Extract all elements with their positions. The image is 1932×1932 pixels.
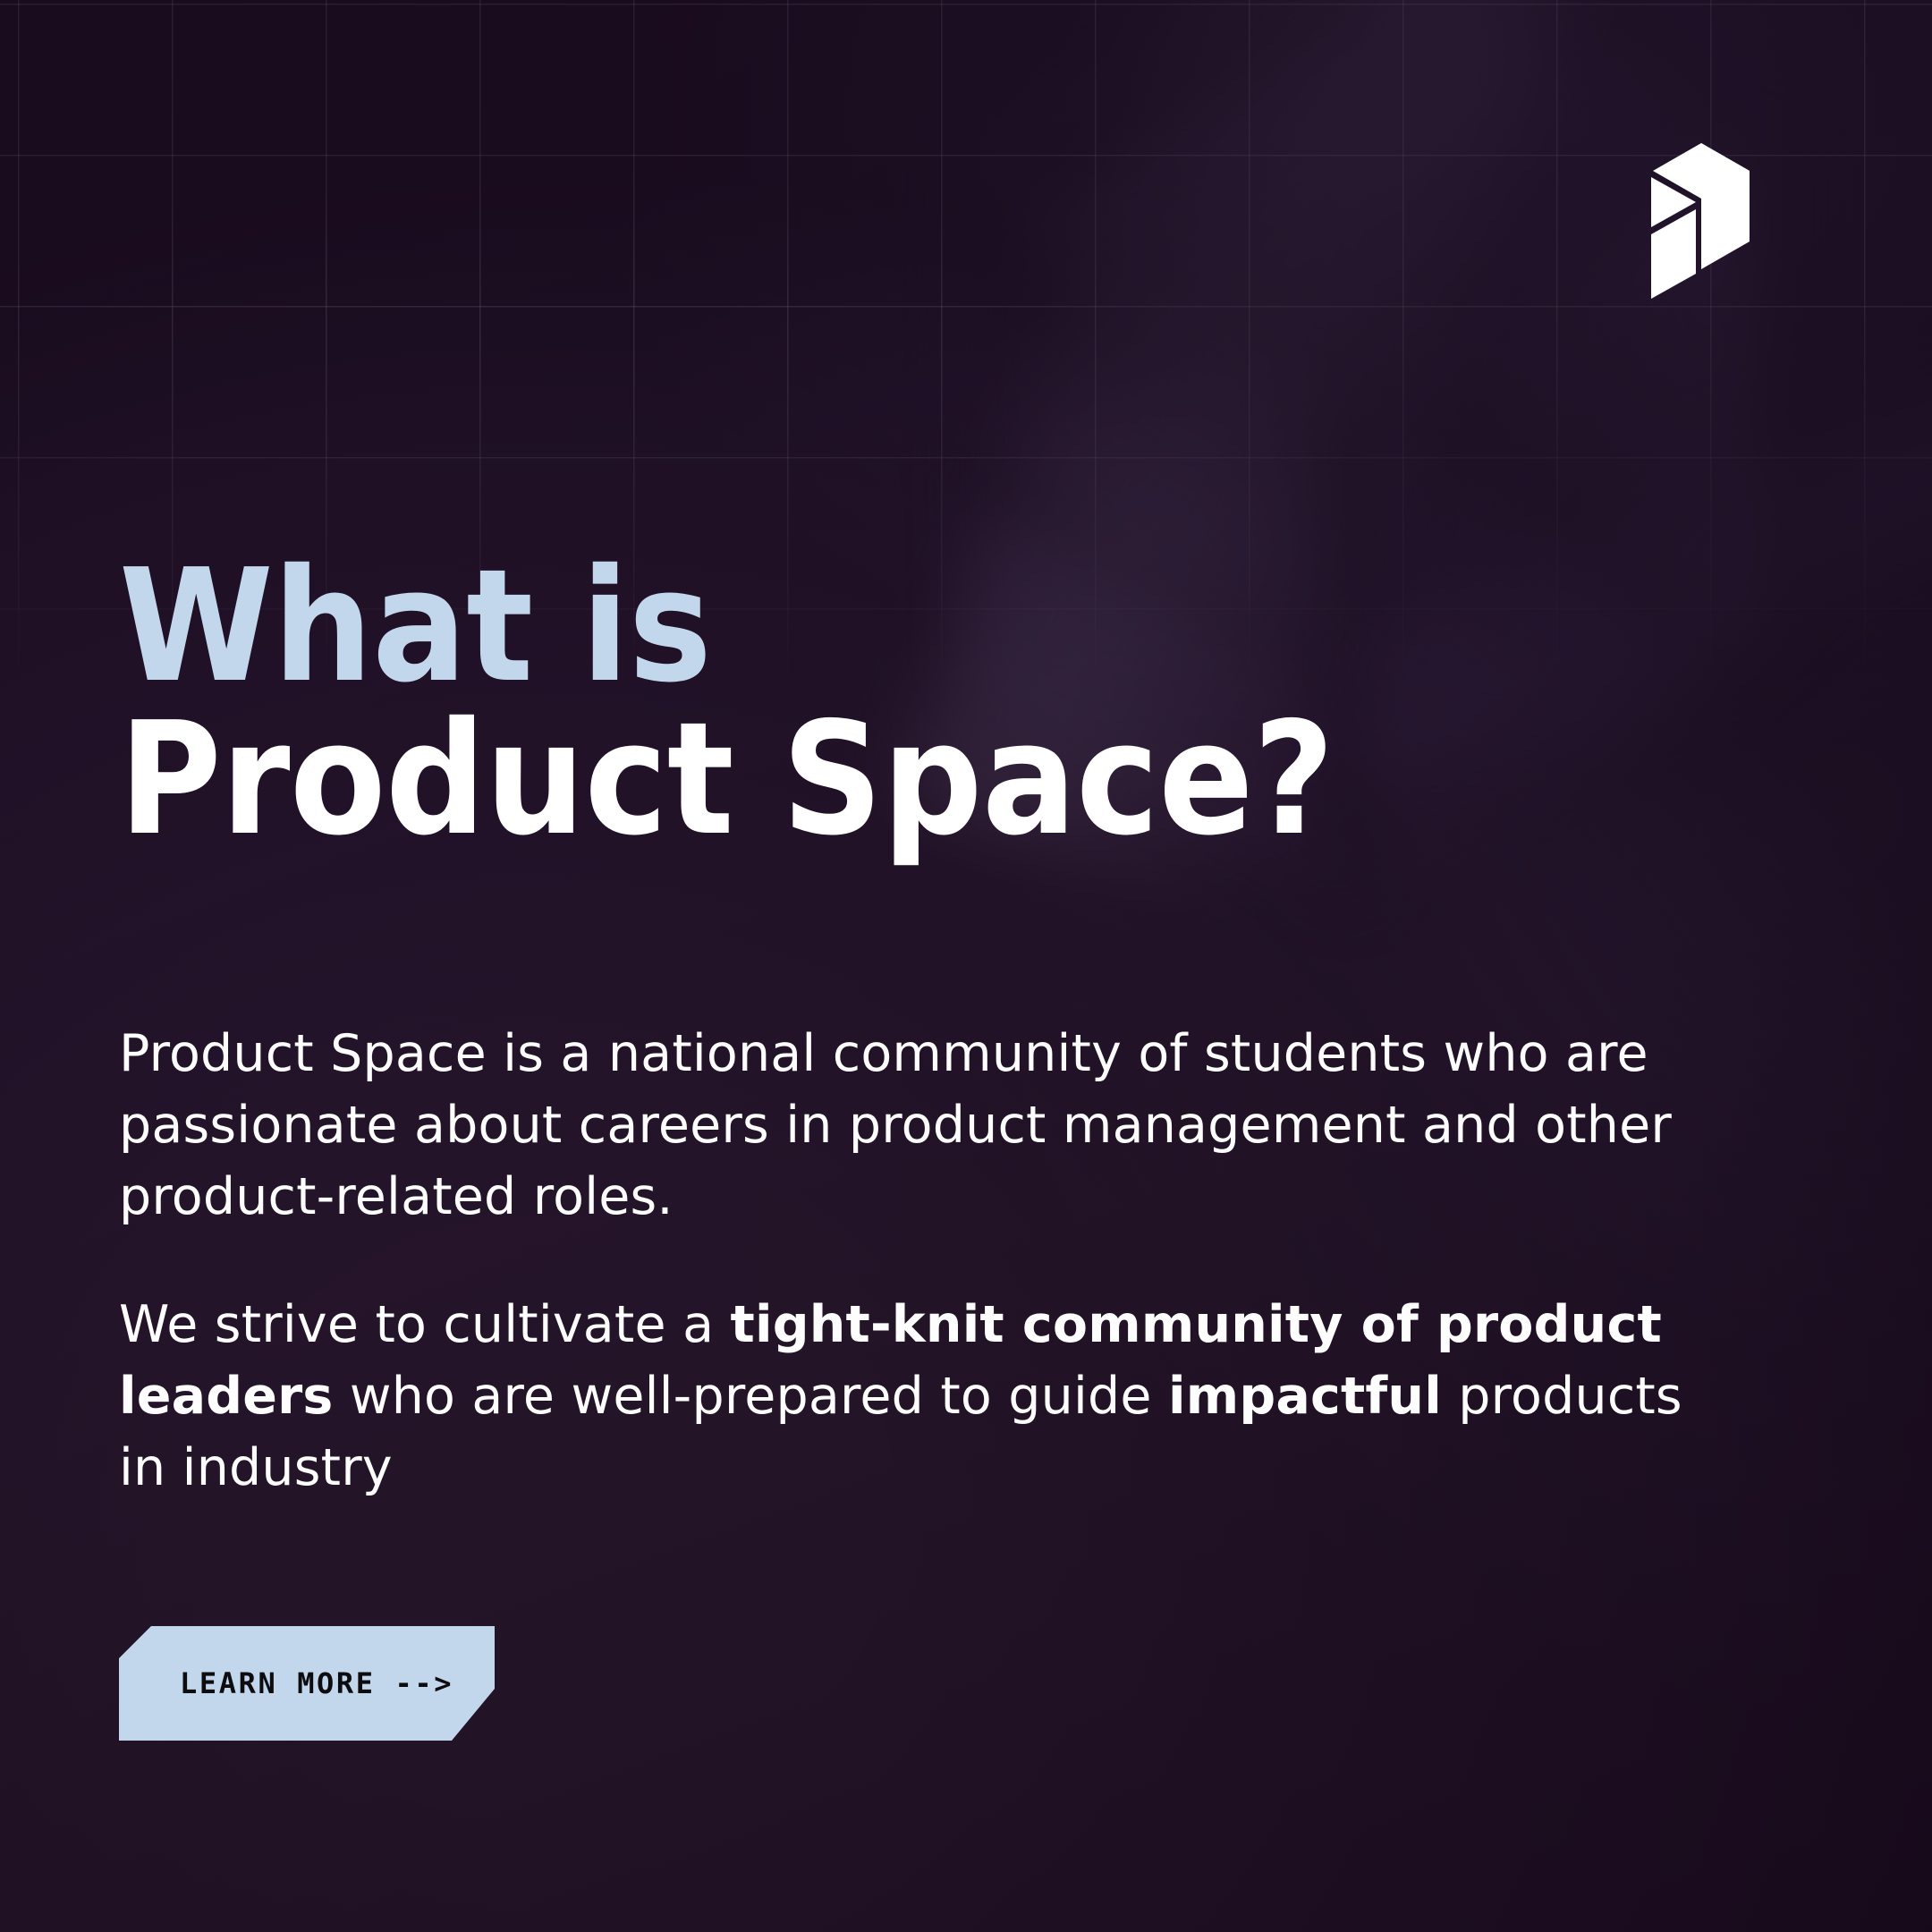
headline-line-1: What is bbox=[119, 551, 1334, 704]
product-space-promo-card: What isProduct Space? Product Space is a… bbox=[0, 0, 1932, 1932]
learn-more-button-label: LEARN MORE --> bbox=[180, 1666, 453, 1700]
paragraph2-bold-impactful: impactful bbox=[1168, 1367, 1442, 1426]
learn-more-button[interactable]: LEARN MORE --> bbox=[119, 1626, 495, 1741]
paragraph2-segment-mid: who are well-prepared to guide bbox=[334, 1367, 1168, 1426]
headline-line-2: Product Space? bbox=[119, 704, 1334, 857]
card-content: What isProduct Space? Product Space is a… bbox=[119, 0, 1801, 1932]
paragraph2-segment-pre: We strive to cultivate a bbox=[119, 1295, 731, 1354]
body-copy: Product Space is a national community of… bbox=[119, 1019, 1720, 1504]
body-paragraph-1: Product Space is a national community of… bbox=[119, 1019, 1720, 1233]
page-title: What isProduct Space? bbox=[119, 551, 1334, 856]
body-paragraph-2: We strive to cultivate a tight-knit comm… bbox=[119, 1290, 1720, 1504]
paragraph-spacer bbox=[119, 1233, 1720, 1290]
